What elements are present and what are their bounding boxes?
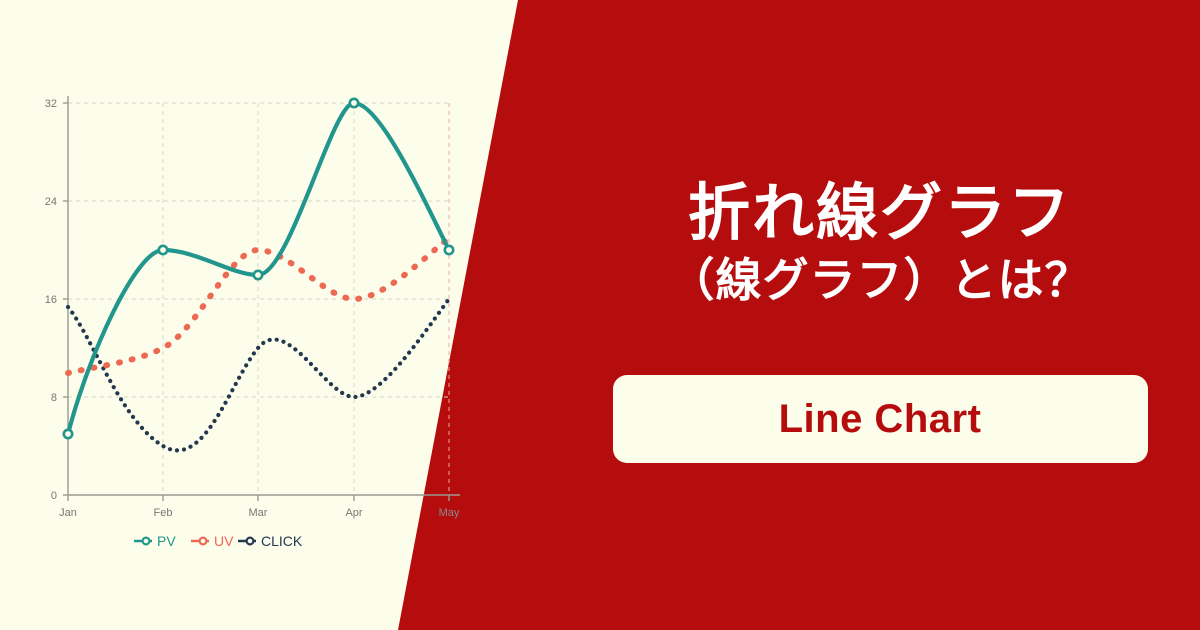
x-tick-label: Feb <box>154 507 173 519</box>
hero-content: 折れ線グラフ （線グラフ）とは？ Line Chart <box>600 0 1160 630</box>
legend-item-uv[interactable]: UV <box>191 533 234 549</box>
hero-title-block: 折れ線グラフ （線グラフ）とは？ <box>600 181 1160 309</box>
x-tick-label: Apr <box>345 507 362 519</box>
hero-title-line-1: 折れ線グラフ <box>600 181 1160 248</box>
data-point-pv <box>64 430 72 438</box>
line-chart-svg: 32 24 16 8 0 Jan Feb Mar Apr M <box>0 0 520 630</box>
y-tick-labels: 32 24 16 8 0 <box>45 98 57 502</box>
legend-label: PV <box>157 533 176 549</box>
line-chart-button[interactable]: Line Chart <box>613 375 1148 463</box>
y-tick-label: 24 <box>45 196 57 208</box>
legend-item-pv[interactable]: PV <box>134 533 176 549</box>
y-tick-label: 8 <box>51 392 57 404</box>
data-point-pv <box>350 99 358 107</box>
legend-label: UV <box>214 533 234 549</box>
data-point-pv <box>254 271 262 279</box>
legend-item-click[interactable]: CLICK <box>238 533 303 549</box>
x-tick-label: May <box>439 507 460 519</box>
line-chart: 32 24 16 8 0 Jan Feb Mar Apr M <box>0 0 520 630</box>
legend-marker-icon <box>143 538 150 545</box>
x-axis <box>68 495 460 501</box>
data-point-pv <box>445 246 453 254</box>
poster-canvas: 32 24 16 8 0 Jan Feb Mar Apr M <box>0 0 1200 630</box>
x-tick-label: Mar <box>249 507 268 519</box>
x-tick-label: Jan <box>59 507 77 519</box>
legend-marker-icon <box>200 538 207 545</box>
y-tick-label: 16 <box>45 294 57 306</box>
legend-label: CLICK <box>261 533 303 549</box>
chart-legend: PV UV CLICK <box>134 533 303 549</box>
x-tick-labels: Jan Feb Mar Apr May <box>59 507 460 519</box>
legend-marker-icon <box>247 538 254 545</box>
hero-title-line-2: （線グラフ）とは？ <box>600 252 1160 310</box>
data-point-pv <box>159 246 167 254</box>
y-tick-label: 0 <box>51 490 57 502</box>
series-pv <box>64 99 453 438</box>
y-tick-label: 32 <box>45 98 57 110</box>
